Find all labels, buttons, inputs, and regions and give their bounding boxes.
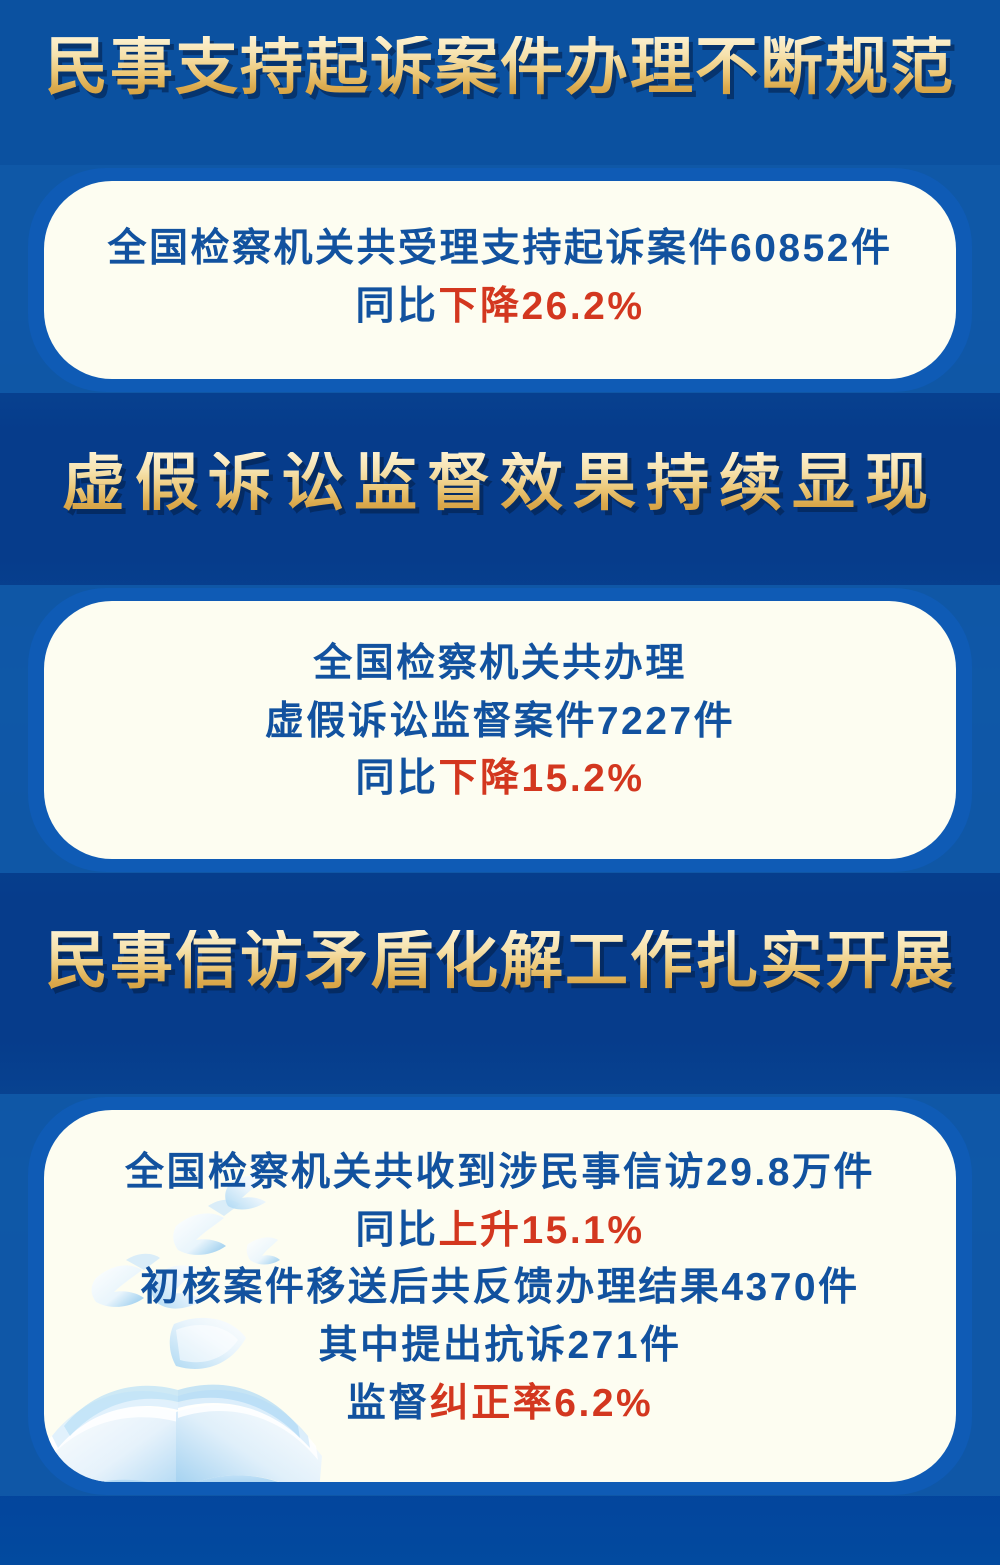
stat-card-3-ring: 全国检察机关共收到涉民事信访29.8万件 同比上升15.1% 初核案件移送后共反… (28, 1097, 972, 1495)
card-line-part: 同比 (355, 285, 438, 328)
card-line-part: 其中提出抗诉271件 (318, 1324, 681, 1367)
card-line-part: 监督 (347, 1382, 430, 1425)
card-line: 同比下降26.2% (44, 278, 956, 336)
stat-card-1-text: 全国检察机关共受理支持起诉案件60852件 同比下降26.2% (44, 181, 956, 335)
card-line: 全国检察机关共受理支持起诉案件60852件 (44, 220, 956, 278)
stat-card-2: 全国检察机关共办理 虚假诉讼监督案件7227件 同比下降15.2% (44, 601, 956, 859)
stat-card-1: 全国检察机关共受理支持起诉案件60852件 同比下降26.2% (44, 181, 956, 379)
card-line-part-highlight: 上升15.1% (438, 1209, 644, 1252)
card-line-part-highlight: 下降26.2% (438, 285, 644, 328)
stat-card-2-ring: 全国检察机关共办理 虚假诉讼监督案件7227件 同比下降15.2% (28, 588, 972, 872)
card-line: 虚假诉讼监督案件7227件 (44, 693, 956, 751)
stat-card-1-ring: 全国检察机关共受理支持起诉案件60852件 同比下降26.2% (28, 168, 972, 392)
card-line-part: 同比 (355, 757, 438, 800)
card-line: 全国检察机关共收到涉民事信访29.8万件 (44, 1144, 956, 1202)
card-line: 其中提出抗诉271件 (44, 1317, 956, 1375)
infographic-page: 民事支持起诉案件办理不断规范 全国检察机关共受理支持起诉案件60852件 同比下… (0, 0, 1000, 1565)
card-line: 监督纠正率6.2% (44, 1375, 956, 1433)
card-line: 全国检察机关共办理 (44, 635, 956, 693)
card-line-part: 全国检察机关共受理支持起诉案件60852件 (108, 227, 893, 270)
stat-card-3: 全国检察机关共收到涉民事信访29.8万件 同比上升15.1% 初核案件移送后共反… (44, 1110, 956, 1482)
card-line-part-highlight: 纠正率6.2% (430, 1382, 653, 1425)
card-line-part: 初核案件移送后共反馈办理结果4370件 (140, 1266, 859, 1309)
card-line-part-highlight: 下降15.2% (438, 757, 644, 800)
section-heading-1: 民事支持起诉案件办理不断规范 (0, 36, 1000, 99)
card-line: 初核案件移送后共反馈办理结果4370件 (44, 1259, 956, 1317)
section-heading-3: 民事信访矛盾化解工作扎实开展 (0, 930, 1000, 993)
card-line-part: 全国检察机关共收到涉民事信访29.8万件 (125, 1151, 875, 1194)
section-heading-2: 虚假诉讼监督效果持续显现 (0, 452, 1000, 515)
stat-card-3-text: 全国检察机关共收到涉民事信访29.8万件 同比上升15.1% 初核案件移送后共反… (44, 1110, 956, 1433)
card-line-part: 同比 (355, 1209, 438, 1252)
card-line-part: 全国检察机关共办理 (313, 642, 687, 685)
card-line: 同比上升15.1% (44, 1202, 956, 1260)
stat-card-2-text: 全国检察机关共办理 虚假诉讼监督案件7227件 同比下降15.2% (44, 601, 956, 808)
card-line-part: 虚假诉讼监督案件7227件 (265, 700, 735, 743)
card-line: 同比下降15.2% (44, 750, 956, 808)
